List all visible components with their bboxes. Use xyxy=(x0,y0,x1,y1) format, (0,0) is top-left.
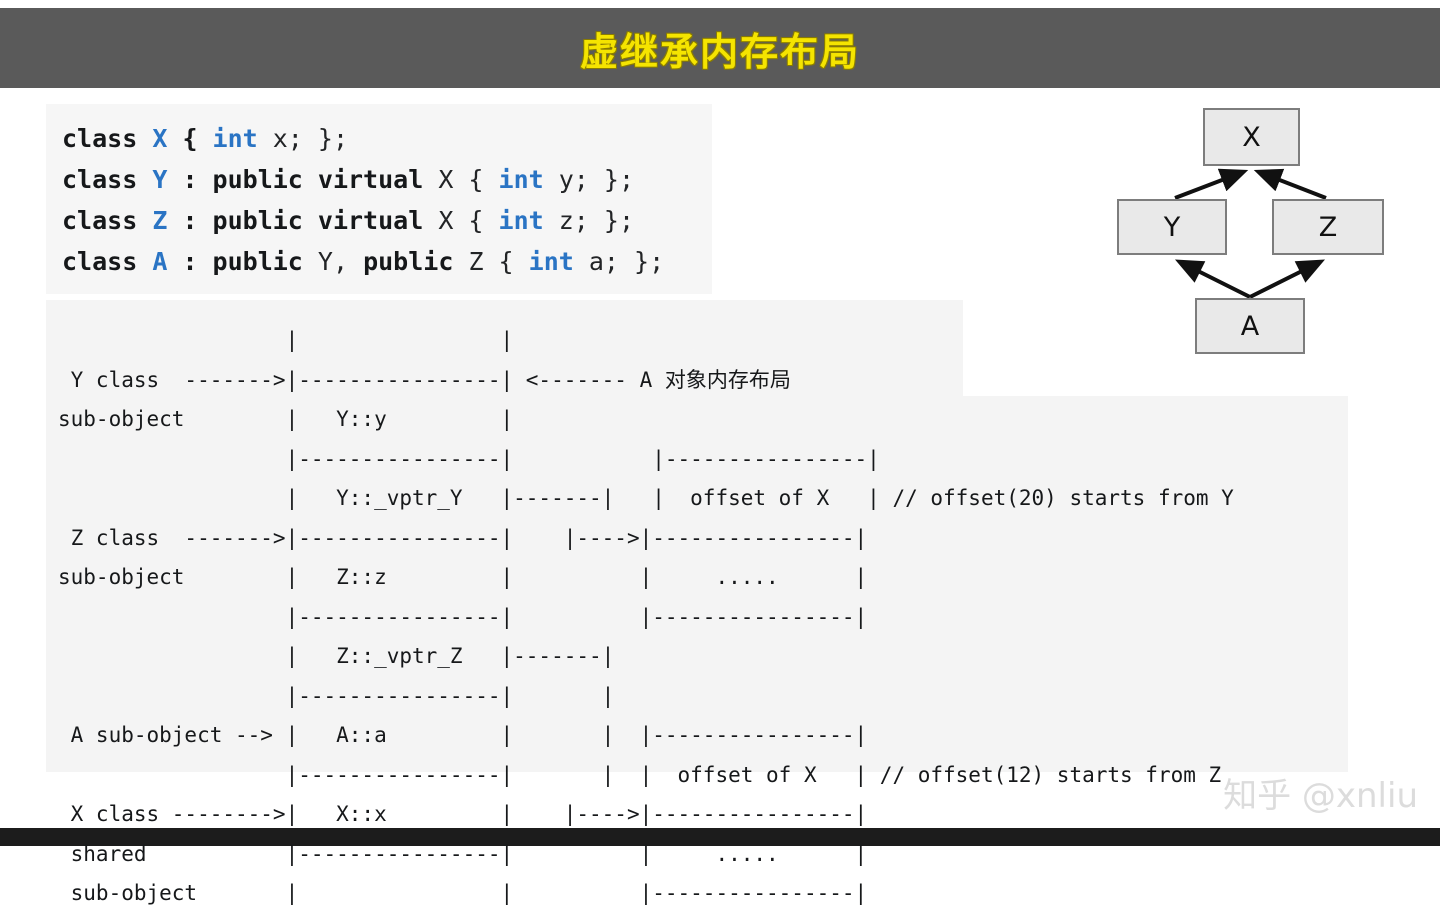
memory-layout-ascii: | | Y class ------->|----------------| <… xyxy=(58,321,1234,914)
watermark: 知乎 @xnliu xyxy=(1223,768,1418,817)
ascii-row: sub-object | Y::y | xyxy=(58,400,1234,440)
code-token: X xyxy=(152,124,167,153)
code-token: public virtual xyxy=(213,165,424,194)
code-line: class A : public Y, public Z { int a; }; xyxy=(62,241,712,282)
ascii-row: X class -------->| X::x | |---->|-------… xyxy=(58,795,1234,835)
ascii-row: | | xyxy=(58,321,1234,361)
ascii-row: | Y::_vptr_Y |-------| | offset of X | /… xyxy=(58,479,1234,519)
code-token: class xyxy=(62,124,137,153)
arrow-a-to-y xyxy=(1180,262,1250,297)
code-token: public xyxy=(213,247,303,276)
header-bar: 虚继承内存布局 xyxy=(0,8,1440,88)
code-token: int xyxy=(499,206,544,235)
code-line: class Y : public virtual X { int y; }; xyxy=(62,159,712,200)
code-token: X { xyxy=(423,165,498,194)
code-block: class X { int x; }; class Y : public vir… xyxy=(46,104,712,294)
ascii-row: |----------------| |----------------| xyxy=(58,598,1234,638)
code-token: class xyxy=(62,206,137,235)
code-token: class xyxy=(62,165,137,194)
code-token: : xyxy=(167,247,212,276)
code-token: A xyxy=(152,247,167,276)
uml-node-y: Y xyxy=(1117,199,1227,255)
ascii-row: A sub-object --> | A::a | | |-----------… xyxy=(58,716,1234,756)
ascii-row: sub-object | Z::z | | ..... | xyxy=(58,558,1234,598)
code-token: : xyxy=(167,206,212,235)
code-token xyxy=(137,206,152,235)
code-token: { xyxy=(167,124,212,153)
ascii-row: |----------------| | xyxy=(58,677,1234,717)
uml-node-z: Z xyxy=(1272,199,1384,255)
ascii-row: |----------------| | | offset of X | // … xyxy=(58,756,1234,796)
code-token: Z { xyxy=(453,247,528,276)
uml-node-x: X xyxy=(1203,108,1300,166)
code-token: x; }; xyxy=(258,124,348,153)
code-token: z; }; xyxy=(544,206,634,235)
code-token: Y, xyxy=(303,247,363,276)
ascii-row: | Z::_vptr_Z |-------| xyxy=(58,637,1234,677)
code-line: class X { int x; }; xyxy=(62,118,712,159)
code-token: a; }; xyxy=(574,247,664,276)
code-token xyxy=(137,124,152,153)
ascii-row: Z class ------->|----------------| |----… xyxy=(58,519,1234,559)
code-token: int xyxy=(529,247,574,276)
arrow-a-to-z xyxy=(1250,262,1320,297)
code-token: Y xyxy=(152,165,167,194)
code-line: class Z : public virtual X { int z; }; xyxy=(62,200,712,241)
code-token: class xyxy=(62,247,137,276)
code-token xyxy=(137,165,152,194)
arrow-z-to-x xyxy=(1259,172,1326,198)
code-token: int xyxy=(499,165,544,194)
ascii-row: shared |----------------| | ..... | xyxy=(58,835,1234,875)
code-token: int xyxy=(213,124,258,153)
ascii-row: Y class ------->|----------------| <----… xyxy=(58,361,1234,401)
arrow-y-to-x xyxy=(1175,172,1243,198)
code-token: public virtual xyxy=(213,206,424,235)
code-token: y; }; xyxy=(544,165,634,194)
code-token xyxy=(137,247,152,276)
code-token: : xyxy=(167,165,212,194)
page-title: 虚继承内存布局 xyxy=(580,21,860,76)
ascii-row: sub-object | | |----------------| xyxy=(58,874,1234,914)
ascii-row: |----------------| |----------------| xyxy=(58,440,1234,480)
code-token: Z xyxy=(152,206,167,235)
code-token: X { xyxy=(423,206,498,235)
code-token: public xyxy=(363,247,453,276)
